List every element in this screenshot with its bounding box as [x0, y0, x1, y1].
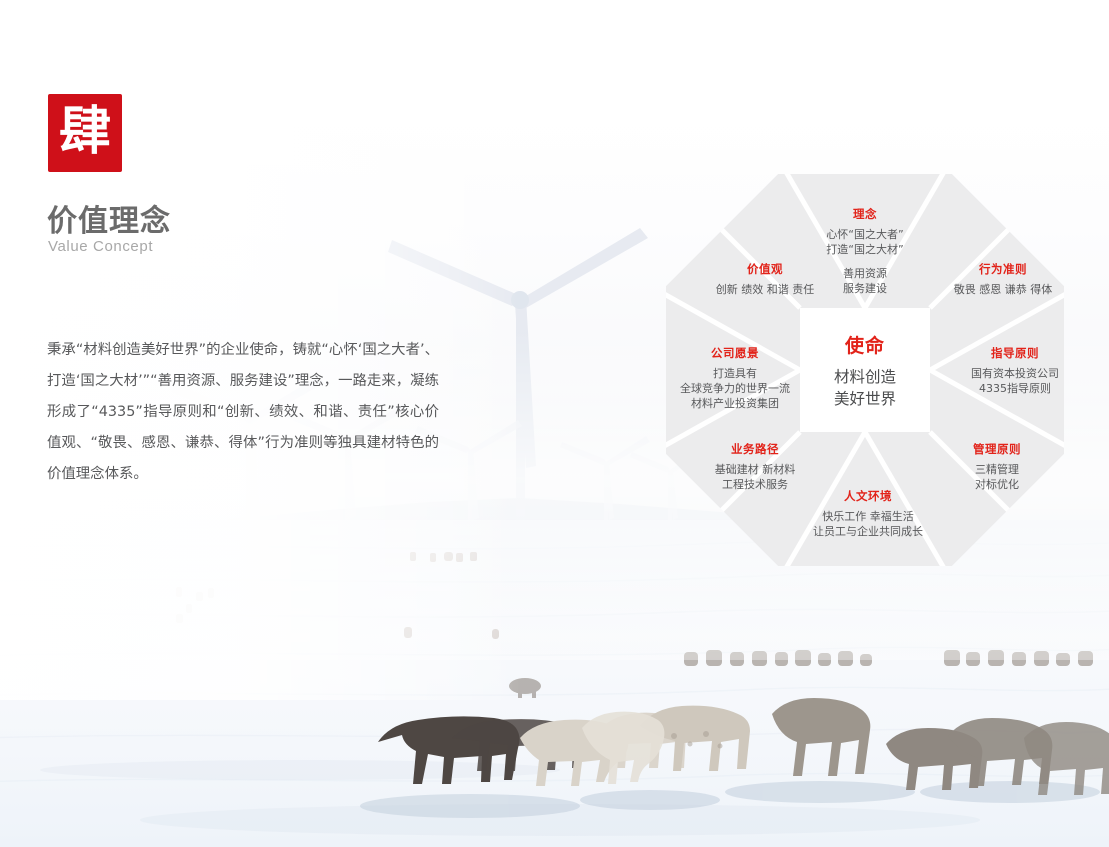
segment-values-heading: 价值观 [690, 261, 840, 277]
page-subtitle: Value Concept [48, 238, 153, 255]
mission-line-1: 材料创造 [834, 366, 896, 388]
segment-code-of-conduct-line-1: 敬畏 感恩 谦恭 得体 [928, 282, 1078, 297]
segment-guiding-principles-heading: 指导原则 [940, 345, 1090, 361]
segment-business-path-line-1: 基础建材 新材料 [675, 462, 835, 477]
segment-code-of-conduct-heading: 行为准则 [928, 261, 1078, 277]
red-seal-logo: 肆 [48, 94, 122, 172]
segment-management-principles: 管理原则 三精管理 对标优化 [932, 441, 1062, 492]
segment-company-vision-heading: 公司愿景 [655, 345, 815, 361]
segment-management-principles-line-1: 三精管理 [932, 462, 1062, 477]
segment-concept-heading: 理念 [785, 206, 945, 222]
segment-business-path-line-2: 工程技术服务 [675, 477, 835, 492]
intro-paragraph: 秉承“材料创造美好世界”的企业使命，铸就“心怀‘国之大者’、打造‘国之大材’”“… [47, 335, 439, 490]
seal-glyph: 肆 [59, 106, 111, 158]
segment-guiding-principles: 指导原则 国有资本投资公司 4335指导原则 [940, 345, 1090, 396]
segment-human-environment-line-2: 让员工与企业共同成长 [788, 524, 948, 539]
segment-company-vision: 公司愿景 打造具有 全球竞争力的世界一流 材料产业投资集团 [655, 345, 815, 411]
segment-concept-line-1: 心怀“国之大者” [785, 227, 945, 242]
page-title: 价值理念 [47, 196, 171, 240]
segment-human-environment-line-1: 快乐工作 幸福生活 [788, 509, 948, 524]
segment-values: 价值观 创新 绩效 和谐 责任 [690, 261, 840, 297]
segment-guiding-principles-line-2: 4335指导原则 [940, 381, 1090, 396]
segment-concept-line-2: 打造“国之大材” [785, 242, 945, 257]
segment-company-vision-line-1: 打造具有 [655, 366, 815, 381]
segment-values-line-1: 创新 绩效 和谐 责任 [690, 282, 840, 297]
page-root: 肆 价值理念 Value Concept 秉承“材料创造美好世界”的企业使命，铸… [0, 0, 1109, 847]
mission-heading: 使命 [845, 331, 885, 358]
mission-line-2: 美好世界 [834, 388, 896, 410]
mission-center: 使命 材料创造 美好世界 [800, 308, 930, 432]
segment-company-vision-line-2: 全球竞争力的世界一流 [655, 381, 815, 396]
segment-management-principles-line-2: 对标优化 [932, 477, 1062, 492]
segment-business-path-heading: 业务路径 [675, 441, 835, 457]
segment-company-vision-line-3: 材料产业投资集团 [655, 396, 815, 411]
segment-management-principles-heading: 管理原则 [932, 441, 1062, 457]
segment-human-environment: 人文环境 快乐工作 幸福生活 让员工与企业共同成长 [788, 488, 948, 539]
segment-code-of-conduct: 行为准则 敬畏 感恩 谦恭 得体 [928, 261, 1078, 297]
segment-business-path: 业务路径 基础建材 新材料 工程技术服务 [675, 441, 835, 492]
segment-guiding-principles-line-1: 国有资本投资公司 [940, 366, 1090, 381]
value-system-octagon-diagram: 使命 材料创造 美好世界 理念 心怀“国之大者” 打造“国之大材” 善用资源 服… [660, 168, 1070, 572]
